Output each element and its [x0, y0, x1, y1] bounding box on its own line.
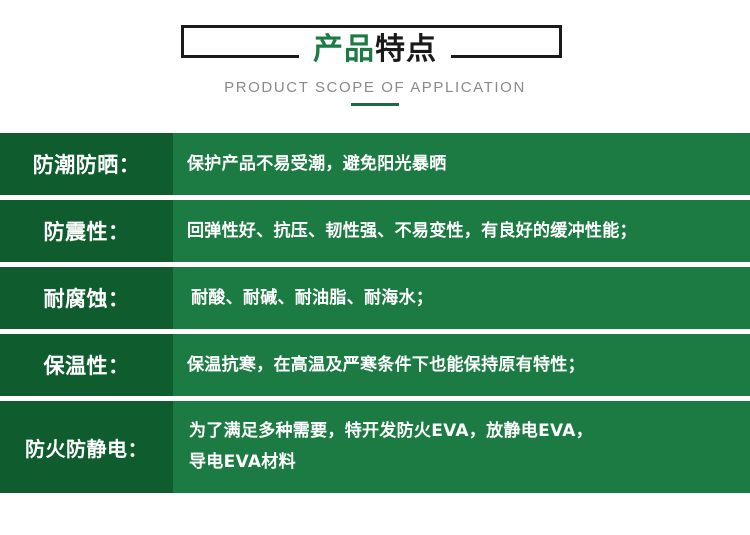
feature-line: 导电EVA材料	[189, 454, 750, 471]
feature-label: 耐腐蚀：	[0, 267, 173, 329]
feature-body: 保温抗寒，在高温及严寒条件下也能保持原有特性；	[173, 334, 750, 396]
feature-row: 保温性： 保温抗寒，在高温及严寒条件下也能保持原有特性；	[0, 334, 750, 396]
feature-line: 保护产品不易受潮，避免阳光暴晒	[187, 156, 750, 173]
page-title-wrap: 产品特点	[0, 26, 750, 74]
feature-row: 耐腐蚀： 耐酸、耐碱、耐油脂、耐海水；	[0, 267, 750, 329]
feature-label: 防潮防晒：	[0, 133, 173, 195]
feature-line: 保温抗寒，在高温及严寒条件下也能保持原有特性；	[187, 357, 750, 374]
feature-row: 防火防静电： 为了满足多种需要，特开发防火EVA，放静电EVA， 导电EVA材料	[0, 401, 750, 493]
feature-body: 为了满足多种需要，特开发防火EVA，放静电EVA， 导电EVA材料	[173, 401, 750, 493]
feature-row: 防震性： 回弹性好、抗压、韧性强、不易变性，有良好的缓冲性能；	[0, 200, 750, 262]
page-title-green: 产品	[313, 32, 375, 67]
feature-body: 保护产品不易受潮，避免阳光暴晒	[173, 133, 750, 195]
subtitle-underline	[351, 103, 399, 106]
page-subtitle: PRODUCT SCOPE OF APPLICATION	[0, 79, 750, 96]
feature-body: 回弹性好、抗压、韧性强、不易变性，有良好的缓冲性能；	[173, 200, 750, 262]
product-features-page: 产品特点 PRODUCT SCOPE OF APPLICATION 防潮防晒： …	[0, 0, 750, 535]
feature-table: 防潮防晒： 保护产品不易受潮，避免阳光暴晒 防震性： 回弹性好、抗压、韧性强、不…	[0, 133, 750, 493]
feature-line: 为了满足多种需要，特开发防火EVA，放静电EVA，	[189, 423, 750, 440]
feature-label: 防火防静电：	[0, 401, 173, 493]
page-header: 产品特点 PRODUCT SCOPE OF APPLICATION	[0, 0, 750, 133]
page-title: 产品特点	[299, 35, 451, 65]
feature-body: 耐酸、耐碱、耐油脂、耐海水；	[173, 267, 750, 329]
feature-line: 回弹性好、抗压、韧性强、不易变性，有良好的缓冲性能；	[187, 223, 750, 240]
page-title-dark: 特点	[375, 32, 437, 67]
feature-row: 防潮防晒： 保护产品不易受潮，避免阳光暴晒	[0, 133, 750, 195]
feature-label: 保温性：	[0, 334, 173, 396]
feature-label: 防震性：	[0, 200, 173, 262]
feature-line: 耐酸、耐碱、耐油脂、耐海水；	[191, 290, 750, 307]
